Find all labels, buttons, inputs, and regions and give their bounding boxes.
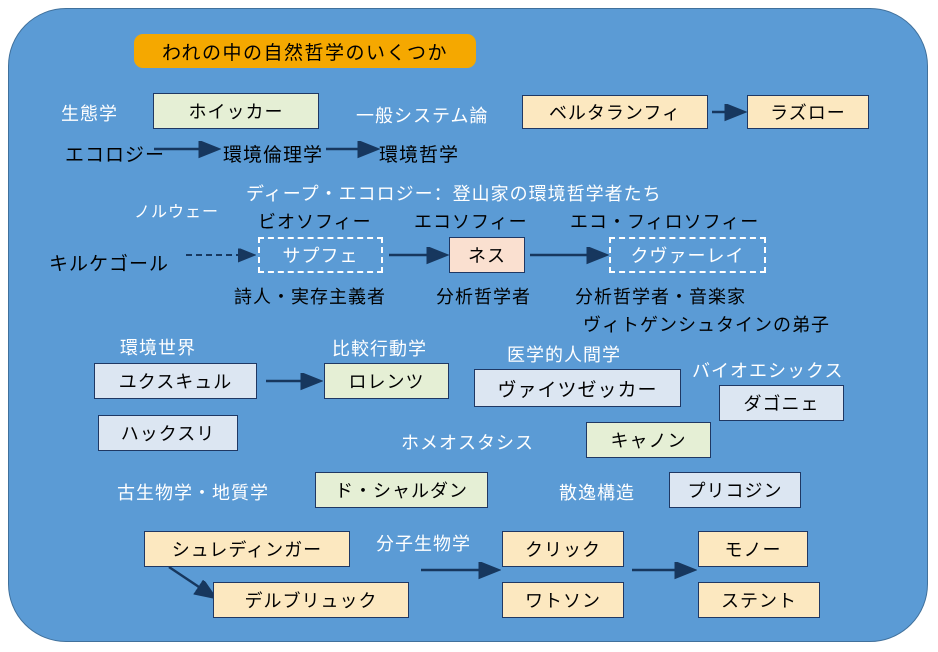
- background-panel: われの中の自然哲学のいくつか ホイッカーベルタランフィラズローサプフェネスクヴァ…: [8, 8, 928, 642]
- label-analytic-musician: 分析哲学者・音楽家: [575, 283, 746, 309]
- node-crick[interactable]: クリック: [502, 531, 624, 567]
- label-environmental-philo: 環境哲学: [379, 140, 459, 167]
- label-ecology-katakana: エコロジー: [65, 140, 165, 167]
- node-bertalanffy[interactable]: ベルタランフィ: [522, 95, 708, 129]
- label-biosophy: ビオソフィー: [258, 208, 372, 234]
- node-kvaloy[interactable]: クヴァーレイ: [609, 237, 766, 273]
- label-ecology-ja: 生態学: [61, 100, 118, 126]
- diagram-canvas: われの中の自然哲学のいくつか ホイッカーベルタランフィラズローサプフェネスクヴァ…: [0, 0, 938, 652]
- label-deep-ecology: ディープ・エコロジー：登山家の環境哲学者たち: [246, 180, 662, 206]
- label-comparative-ethology: 比較行動学: [332, 335, 427, 361]
- label-dissipative: 散逸構造: [559, 479, 635, 505]
- label-molecular-biology: 分子生物学: [376, 530, 471, 556]
- node-teilhard[interactable]: ド・シャルダン: [315, 472, 488, 508]
- label-general-systems: 一般システム論: [356, 102, 488, 128]
- label-wittgenstein-pupil: ヴィトゲンシュタインの弟子: [583, 311, 830, 337]
- label-medical-anthropology: 医学的人間学: [507, 341, 621, 367]
- label-homeostasis: ホメオスタシス: [401, 429, 534, 455]
- page-title: われの中の自然哲学のいくつか: [134, 34, 476, 68]
- node-watson[interactable]: ワトソン: [502, 582, 624, 618]
- node-prigogine[interactable]: プリコジン: [669, 472, 801, 508]
- label-kierkegaard: キルケゴール: [49, 249, 169, 276]
- node-schrodinger[interactable]: シュレディンガー: [144, 531, 350, 567]
- node-naess[interactable]: ネス: [449, 237, 525, 273]
- node-cannon[interactable]: キャノン: [586, 422, 711, 458]
- node-lorenz[interactable]: ロレンツ: [324, 363, 449, 399]
- label-paleo-geology: 古生物学・地質学: [117, 479, 269, 505]
- node-monod[interactable]: モノー: [698, 531, 808, 567]
- label-poet-existentialist: 詩人・実存主義者: [234, 283, 386, 309]
- node-delbruck[interactable]: デルブリュック: [213, 582, 409, 618]
- label-ecosophy: エコソフィー: [414, 208, 528, 234]
- node-uexkull[interactable]: ユクスキュル: [94, 363, 257, 399]
- node-stent[interactable]: ステント: [698, 582, 820, 618]
- label-analytic-philosopher: 分析哲学者: [436, 283, 531, 309]
- node-dagognet[interactable]: ダゴニェ: [719, 385, 844, 421]
- label-bioethics: バイオエシックス: [692, 357, 843, 383]
- label-umwelt: 環境世界: [120, 334, 196, 360]
- node-whittaker[interactable]: ホイッカー: [153, 93, 319, 129]
- node-zapffe[interactable]: サプフェ: [258, 237, 383, 273]
- label-norway: ノルウェー: [134, 198, 219, 222]
- node-laszlo[interactable]: ラズロー: [747, 95, 869, 129]
- node-huxley[interactable]: ハックスリ: [98, 415, 238, 451]
- label-environmental-ethics: 環境倫理学: [223, 140, 323, 167]
- node-weizsacker[interactable]: ヴァイツゼッカー: [474, 369, 681, 407]
- arrow-schrodinger-to-delbruck: [169, 567, 214, 597]
- label-eco-philosophy: エコ・フィロソフィー: [570, 208, 759, 234]
